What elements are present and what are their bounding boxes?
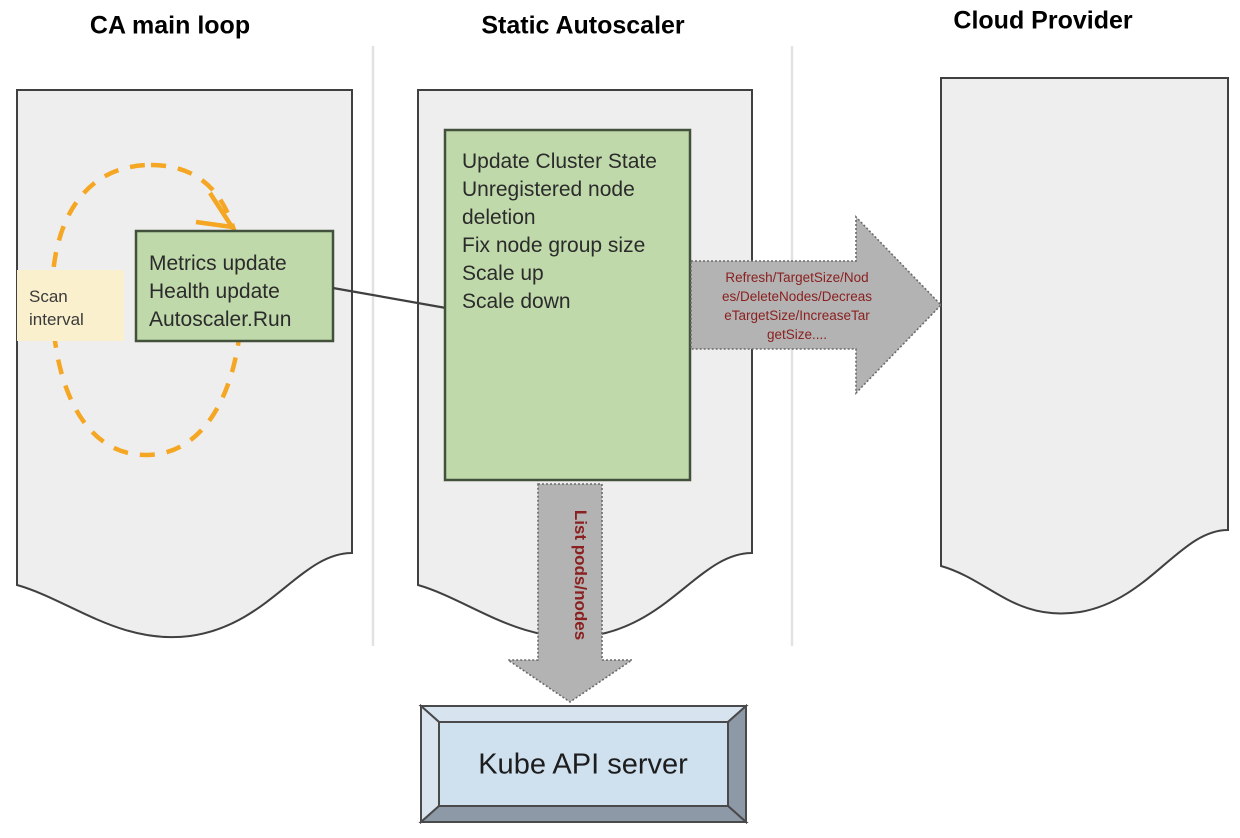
kube-api-server-bevel-top: [421, 706, 746, 722]
metrics-update-line-2: Autoscaler.Run: [149, 308, 291, 331]
kube-api-server-bevel-bottom: [421, 806, 746, 822]
kube-api-arrow-label: List pods/nodes: [571, 510, 590, 640]
scan-interval-label-line2: interval: [29, 310, 84, 329]
static-autoscaler-line-1: Unregistered node: [462, 178, 635, 201]
metrics-update-line-0: Metrics update: [149, 252, 287, 275]
cloud-provider-arrow-label-line-2: eTargetSize/IncreaseTar: [724, 308, 870, 323]
lane-title-ca-main-loop: CA main loop: [90, 12, 250, 40]
lane-title-static-autoscaler: Static Autoscaler: [481, 12, 685, 40]
metrics-update-line-1: Health update: [149, 280, 280, 303]
static-autoscaler-line-4: Scale up: [462, 262, 544, 285]
document-cloud-provider: [941, 78, 1228, 614]
architecture-diagram-canvas: CA main loop Static Autoscaler Cloud Pro…: [0, 0, 1240, 838]
kube-api-server-bevel-left: [421, 706, 439, 822]
static-autoscaler-line-3: Fix node group size: [462, 234, 645, 257]
kube-api-server-bevel-right: [728, 706, 746, 822]
lane-title-cloud-provider: Cloud Provider: [953, 7, 1132, 35]
cloud-provider-arrow-label-line-0: Refresh/TargetSize/Nod: [725, 270, 868, 285]
cloud-provider-arrow-label-line-3: getSize....: [767, 327, 827, 342]
kube-api-server-node: Kube API server: [421, 706, 746, 822]
scan-interval-label-line1: Scan: [29, 287, 68, 306]
static-autoscaler-line-5: Scale down: [462, 290, 571, 313]
kube-api-server-label: Kube API server: [478, 749, 688, 781]
cloud-provider-arrow-label-line-1: es/DeleteNodes/Decreas: [722, 289, 872, 304]
static-autoscaler-line-2: deletion: [462, 206, 536, 229]
diagram-root: CA main loop Static Autoscaler Cloud Pro…: [0, 0, 1240, 838]
static-autoscaler-line-0: Update Cluster State: [462, 150, 657, 173]
